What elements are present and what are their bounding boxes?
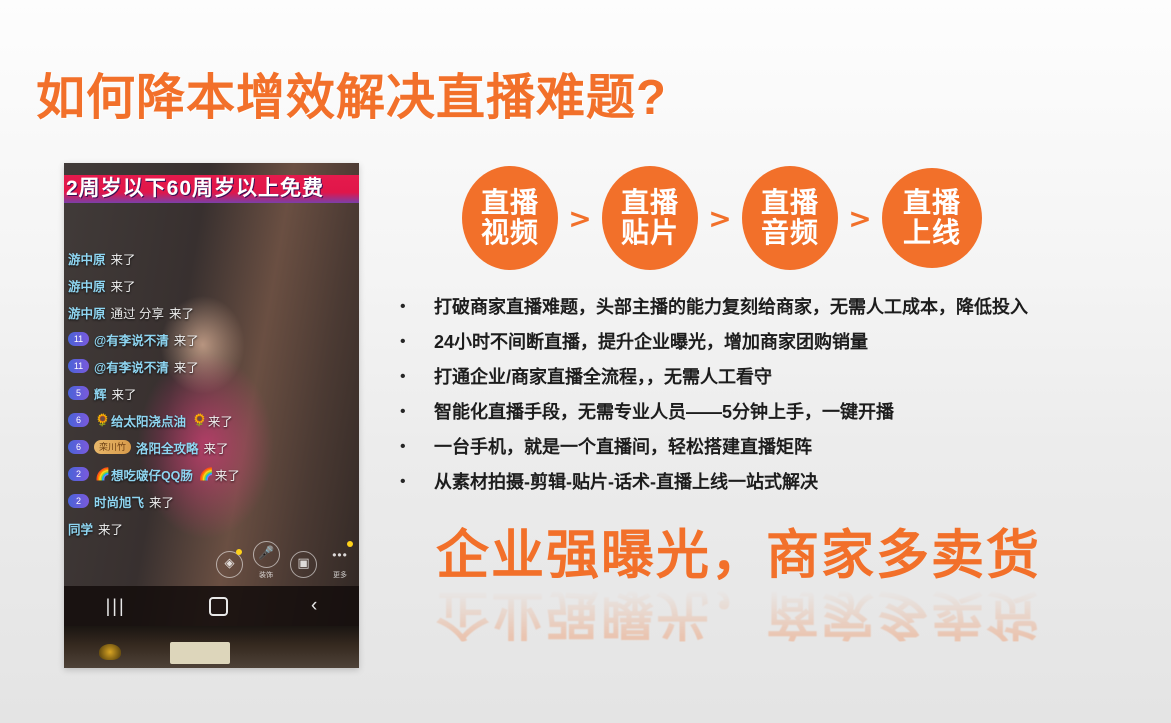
list-item: • 智能化直播手段，无需专业人员——5分钟上手，一键开播 bbox=[400, 401, 1160, 425]
flow-step-line2: 视频 bbox=[481, 218, 539, 248]
footer-headline-reflection: 企业强曝光，商家多卖货 bbox=[436, 586, 1041, 642]
chat-level-badge: 6 bbox=[68, 440, 89, 454]
livestream-chat-list: 游中原 来了 游中原 来了 游中原 通过 分享 来了 11 @有李说不清 来了 … bbox=[68, 249, 313, 546]
chat-text: 来了 bbox=[174, 330, 199, 349]
home-icon[interactable] bbox=[209, 597, 228, 616]
mic-glyph: 🎤 bbox=[253, 541, 280, 568]
chat-message: 6 🌻 给太阳浇点油 🌻 来了 bbox=[68, 411, 313, 429]
chat-level-badge: 11 bbox=[68, 332, 89, 346]
mic-icon[interactable]: 🎤 装饰 bbox=[253, 541, 279, 580]
chat-text: 来了 bbox=[215, 465, 240, 484]
bullet-icon: • bbox=[400, 401, 434, 423]
chat-username: 同学 bbox=[68, 519, 93, 538]
chat-level-badge: 5 bbox=[68, 386, 89, 400]
shop-glyph: ▣ bbox=[290, 551, 317, 578]
chat-text: 来了 bbox=[208, 411, 233, 430]
chat-username: 想吃啵仔QQ肠 bbox=[111, 465, 193, 484]
list-item-label: 24小时不间断直播，提升企业曝光，增加商家团购销量 bbox=[434, 331, 868, 353]
android-nav-bar: ||| ‹ bbox=[64, 586, 359, 626]
recents-icon[interactable]: ||| bbox=[106, 596, 126, 617]
chat-message: 2 时尚旭飞 来了 bbox=[68, 492, 313, 510]
sunflower-icon: 🌻 bbox=[95, 413, 110, 427]
chat-message: 6 栾川竹 洛阳全攻略 来了 bbox=[68, 438, 313, 456]
more-caption: 更多 bbox=[327, 570, 353, 580]
list-item: • 打通企业/商家直播全流程，，无需人工看守 bbox=[400, 366, 1160, 390]
chat-message: 11 @有李说不清 来了 bbox=[68, 357, 313, 375]
chevron-right-icon: > bbox=[838, 202, 882, 235]
footer-headline-block: 企业强曝光，商家多卖货 企业强曝光，商家多卖货 bbox=[436, 528, 1041, 641]
chat-level-badge: 6 bbox=[68, 413, 89, 427]
rainbow-icon: 🌈 bbox=[199, 467, 214, 481]
list-item: • 打破商家直播难题，头部主播的能力复刻给商家，无需人工成本，降低投入 bbox=[400, 296, 1160, 320]
bullet-icon: • bbox=[400, 296, 434, 318]
flow-step-live-overlay: 直播 贴片 bbox=[602, 166, 698, 270]
chat-text: 来了 bbox=[111, 249, 136, 268]
chat-username: 游中原 bbox=[68, 276, 106, 295]
chat-message: 游中原 通过 分享 来了 bbox=[68, 303, 313, 321]
shop-icon[interactable]: ▣ bbox=[290, 551, 316, 580]
list-item: • 24小时不间断直播，提升企业曝光，增加商家团购销量 bbox=[400, 331, 1160, 355]
chat-level-badge: 2 bbox=[68, 467, 89, 481]
bullet-icon: • bbox=[400, 331, 434, 353]
process-flow: 直播 视频 > 直播 贴片 > 直播 音频 > 直播 上线 bbox=[462, 166, 982, 270]
phone-screenshot: 2周岁以下60周岁以上免费 游中原 来了 游中原 来了 游中原 通过 分享 来了… bbox=[64, 163, 359, 668]
gift-glyph: ◈ bbox=[216, 551, 243, 578]
chat-message: 游中原 来了 bbox=[68, 276, 313, 294]
rainbow-icon: 🌈 bbox=[95, 467, 110, 481]
bullet-icon: • bbox=[400, 366, 434, 388]
chat-message: 游中原 来了 bbox=[68, 249, 313, 267]
chat-message: 11 @有李说不清 来了 bbox=[68, 330, 313, 348]
chat-username: 时尚旭飞 bbox=[94, 492, 144, 511]
chat-text: 来了 bbox=[98, 519, 123, 538]
chat-middle-text: 通过 分享 bbox=[111, 303, 164, 322]
flow-step-line2: 贴片 bbox=[621, 218, 679, 248]
chat-level-badge: 11 bbox=[68, 359, 89, 373]
notification-dot bbox=[347, 541, 353, 547]
flow-step-line1: 直播 bbox=[761, 188, 819, 218]
chat-text: 来了 bbox=[149, 492, 174, 511]
sunflower-icon: 🌻 bbox=[192, 413, 207, 427]
chat-username: 游中原 bbox=[68, 249, 106, 268]
chat-text: 来了 bbox=[174, 357, 199, 376]
chat-text: 来了 bbox=[169, 303, 194, 322]
chat-username: 给太阳浇点油 bbox=[111, 411, 186, 430]
chat-username: 游中原 bbox=[68, 303, 106, 322]
more-icon[interactable]: ••• 更多 bbox=[327, 543, 353, 580]
gift-icon[interactable]: ◈ bbox=[216, 551, 242, 580]
chat-fanclub-pill: 栾川竹 bbox=[94, 440, 131, 454]
chat-username: @有李说不清 bbox=[94, 330, 169, 349]
feature-list: • 打破商家直播难题，头部主播的能力复刻给商家，无需人工成本，降低投入 • 24… bbox=[400, 296, 1160, 506]
flow-step-line2: 上线 bbox=[903, 218, 961, 248]
livestream-banner: 2周岁以下60周岁以上免费 bbox=[64, 175, 359, 203]
flow-step-line2: 音频 bbox=[761, 218, 819, 248]
flow-step-line1: 直播 bbox=[903, 188, 961, 218]
bullet-icon: • bbox=[400, 471, 434, 493]
back-icon[interactable]: ‹ bbox=[311, 595, 317, 617]
chat-text: 来了 bbox=[112, 384, 137, 403]
flow-step-live-audio: 直播 音频 bbox=[742, 166, 838, 270]
mic-caption: 装饰 bbox=[253, 570, 279, 580]
list-item-label: 从素材拍摄-剪辑-贴片-话术-直播上线一站式解决 bbox=[434, 471, 818, 493]
chat-message: 同学 来了 bbox=[68, 519, 313, 537]
livestream-action-bar: ◈ 🎤 装饰 ▣ ••• 更多 bbox=[216, 541, 353, 580]
chevron-right-icon: > bbox=[698, 202, 742, 235]
list-item-label: 打通企业/商家直播全流程，，无需人工看守 bbox=[434, 366, 772, 388]
page-title: 如何降本增效解决直播难题? bbox=[36, 74, 667, 123]
footer-headline: 企业强曝光，商家多卖货 bbox=[436, 528, 1041, 584]
chat-username: 辉 bbox=[94, 384, 107, 403]
chevron-right-icon: > bbox=[558, 202, 602, 235]
chat-message: 2 🌈 想吃啵仔QQ肠 🌈 来了 bbox=[68, 465, 313, 483]
list-item-label: 智能化直播手段，无需专业人员——5分钟上手，一键开播 bbox=[434, 401, 894, 423]
phone-desk-background bbox=[64, 626, 359, 668]
chat-username: 洛阳全攻略 bbox=[136, 438, 199, 457]
list-item: • 一台手机，就是一个直播间，轻松搭建直播矩阵 bbox=[400, 436, 1160, 460]
list-item-label: 一台手机，就是一个直播间，轻松搭建直播矩阵 bbox=[434, 436, 812, 458]
list-item: • 从素材拍摄-剪辑-贴片-话术-直播上线一站式解决 bbox=[400, 471, 1160, 495]
flow-step-line1: 直播 bbox=[621, 188, 679, 218]
bullet-icon: • bbox=[400, 436, 434, 458]
list-item-label: 打破商家直播难题，头部主播的能力复刻给商家，无需人工成本，降低投入 bbox=[434, 296, 1028, 318]
chat-text: 来了 bbox=[204, 438, 229, 457]
flow-step-live-launch: 直播 上线 bbox=[882, 168, 982, 268]
chat-level-badge: 2 bbox=[68, 494, 89, 508]
flow-step-line1: 直播 bbox=[481, 188, 539, 218]
chat-username: @有李说不清 bbox=[94, 357, 169, 376]
chat-text: 来了 bbox=[111, 276, 136, 295]
chat-message: 5 辉 来了 bbox=[68, 384, 313, 402]
notification-dot bbox=[236, 549, 242, 555]
flow-step-live-video: 直播 视频 bbox=[462, 166, 558, 270]
